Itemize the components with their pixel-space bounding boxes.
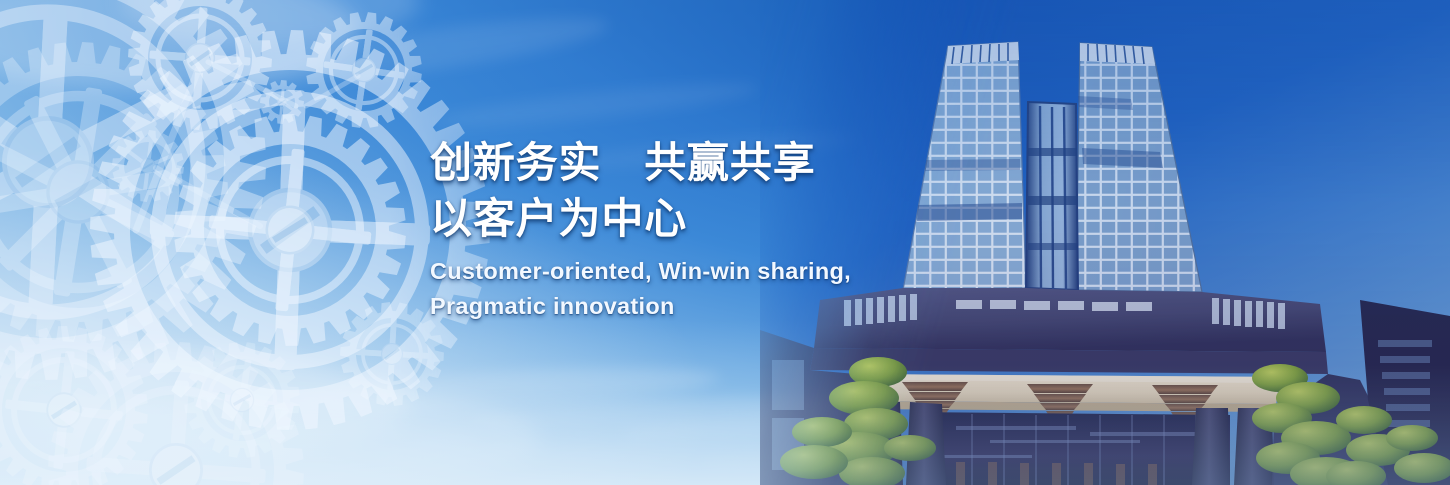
subhead-en-line1: Customer-oriented, Win-win sharing, — [430, 255, 950, 288]
headline-cn-line1: 创新务实 共赢共享 — [430, 138, 950, 188]
entrance-glass — [910, 412, 1230, 485]
headline-cn-line2: 以客户为中心 — [430, 194, 950, 244]
banner-copy: 创新务实 共赢共享 以客户为中心 Customer-oriented, Win-… — [430, 138, 950, 324]
hero-banner: 创新务实 共赢共享 以客户为中心 Customer-oriented, Win-… — [0, 0, 1450, 485]
subhead-en-line2: Pragmatic innovation — [430, 290, 950, 323]
tower-core — [1026, 102, 1078, 290]
